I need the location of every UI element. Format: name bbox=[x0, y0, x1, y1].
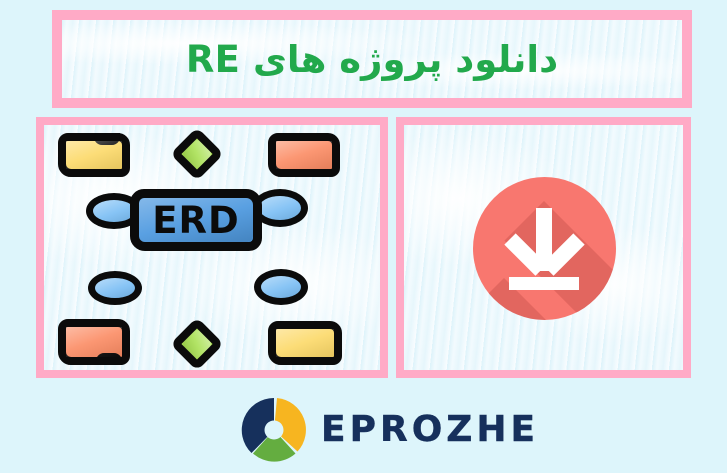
header-panel: دانلود پروژه های ER bbox=[52, 10, 692, 108]
erd-center-label: ERD bbox=[152, 202, 239, 239]
shape-sheen bbox=[181, 138, 212, 169]
shape-sheen bbox=[95, 278, 135, 298]
shape-sheen bbox=[181, 328, 212, 359]
attribute-right-lower bbox=[254, 269, 308, 305]
shape-sheen bbox=[276, 329, 334, 357]
shape-sheen bbox=[261, 276, 301, 298]
erd-illustration-panel: ERD bbox=[36, 117, 388, 378]
brand-logo: EPROZHE bbox=[241, 392, 491, 468]
shape-sheen bbox=[93, 200, 135, 222]
poster-canvas: دانلود پروژه های ER bbox=[0, 0, 727, 473]
entity-bottom-left bbox=[58, 319, 130, 365]
page-title: دانلود پروژه های ER bbox=[62, 20, 682, 98]
brand-wordmark: EPROZHE bbox=[321, 412, 539, 448]
download-baseline-bar bbox=[509, 277, 579, 290]
download-icon[interactable] bbox=[473, 177, 616, 320]
erd-center-badge: ERD bbox=[130, 189, 262, 251]
shape-sheen bbox=[66, 327, 122, 357]
shape-sheen bbox=[276, 141, 332, 169]
entity-bottom-right bbox=[268, 321, 342, 365]
attribute-left-lower bbox=[88, 271, 142, 305]
relationship-bottom bbox=[170, 317, 224, 371]
logo-hub bbox=[265, 421, 284, 440]
entity-top-right bbox=[268, 133, 340, 177]
shape-sheen bbox=[259, 196, 301, 220]
eprozhe-logo-icon bbox=[241, 397, 307, 463]
download-panel bbox=[396, 117, 691, 378]
relationship-top bbox=[170, 127, 224, 181]
erd-diagram: ERD bbox=[44, 125, 380, 370]
entity-top-left bbox=[58, 133, 130, 177]
shape-sheen bbox=[66, 141, 122, 169]
